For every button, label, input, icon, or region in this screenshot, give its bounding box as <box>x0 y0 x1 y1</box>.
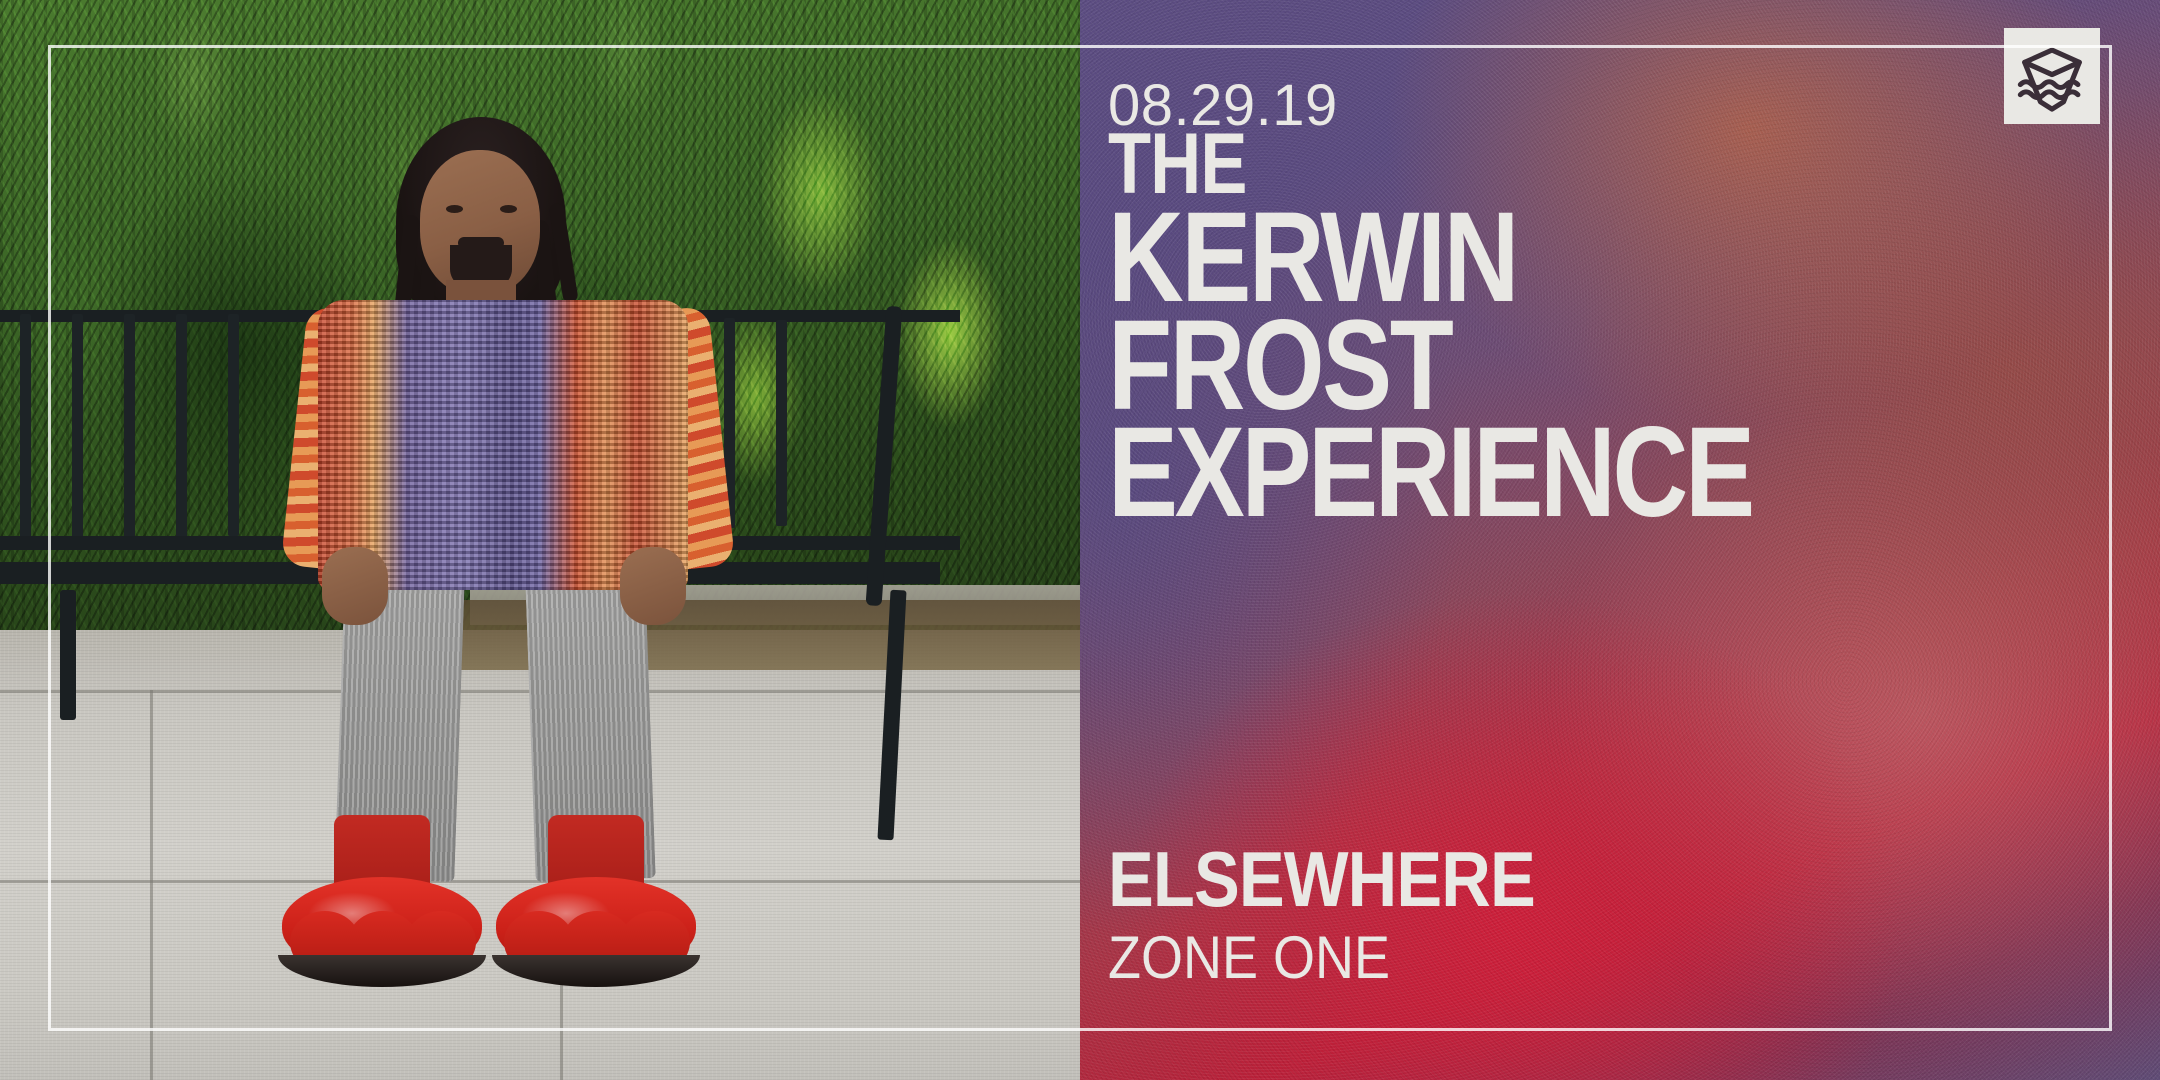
bench-slat <box>776 320 787 526</box>
title-line-4: EXPERIENCE <box>1108 419 1928 527</box>
hand <box>620 547 686 625</box>
venue-room: ZONE ONE <box>1108 924 1545 991</box>
artist-photo <box>0 0 1080 1080</box>
bench-slat <box>124 314 135 540</box>
event-title: THE KERWIN FROST EXPERIENCE <box>1108 128 2108 527</box>
bench-slat <box>72 314 83 542</box>
boot-sole <box>492 955 700 987</box>
bench-slat <box>228 314 239 536</box>
boot-sole <box>278 955 486 987</box>
venue-name: ELSEWHERE <box>1108 840 1535 918</box>
event-poster: 08.29.19 THE KERWIN FROST EXPERIENCE ELS… <box>0 0 2160 1080</box>
eye <box>446 205 463 213</box>
red-boot <box>496 815 696 995</box>
red-boot <box>282 815 482 995</box>
eye <box>500 205 517 213</box>
knit-sweater <box>318 300 688 590</box>
bench-leg <box>60 590 76 720</box>
hand <box>322 547 388 625</box>
venue-block: ELSEWHERE ZONE ONE <box>1108 840 1593 991</box>
bench-slat <box>20 314 31 544</box>
seated-person <box>300 95 770 1035</box>
poster-text: 08.29.19 THE KERWIN FROST EXPERIENCE ELS… <box>1108 0 2128 1080</box>
elsewhere-logo <box>2004 28 2100 124</box>
bench-slat <box>176 314 187 538</box>
sinking-box-icon <box>2016 40 2088 112</box>
bench-leg <box>877 590 906 840</box>
